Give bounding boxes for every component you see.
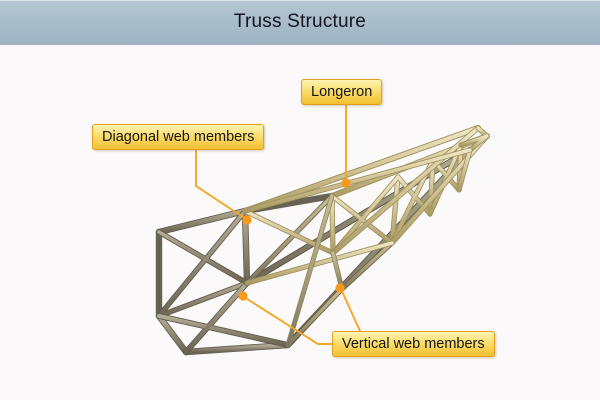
diagonal-marker — [242, 215, 251, 224]
callout-vertical-web-members[interactable]: Vertical web members — [332, 331, 495, 357]
truss-svg — [0, 45, 600, 400]
vertical-marker-left — [238, 291, 247, 300]
vertical-marker-right — [335, 283, 344, 292]
page-title: Truss Structure — [0, 0, 600, 45]
callout-longeron[interactable]: Longeron — [301, 79, 382, 105]
title-bar: Truss Structure — [0, 0, 600, 45]
callout-diagonal-web-members[interactable]: Diagonal web members — [92, 124, 264, 150]
longeron-marker — [341, 178, 350, 187]
leader-diagonal — [196, 150, 246, 219]
figure-area — [0, 45, 600, 400]
leader-vertical-right — [341, 289, 360, 331]
diagram-page: Truss Structure — [0, 0, 600, 400]
